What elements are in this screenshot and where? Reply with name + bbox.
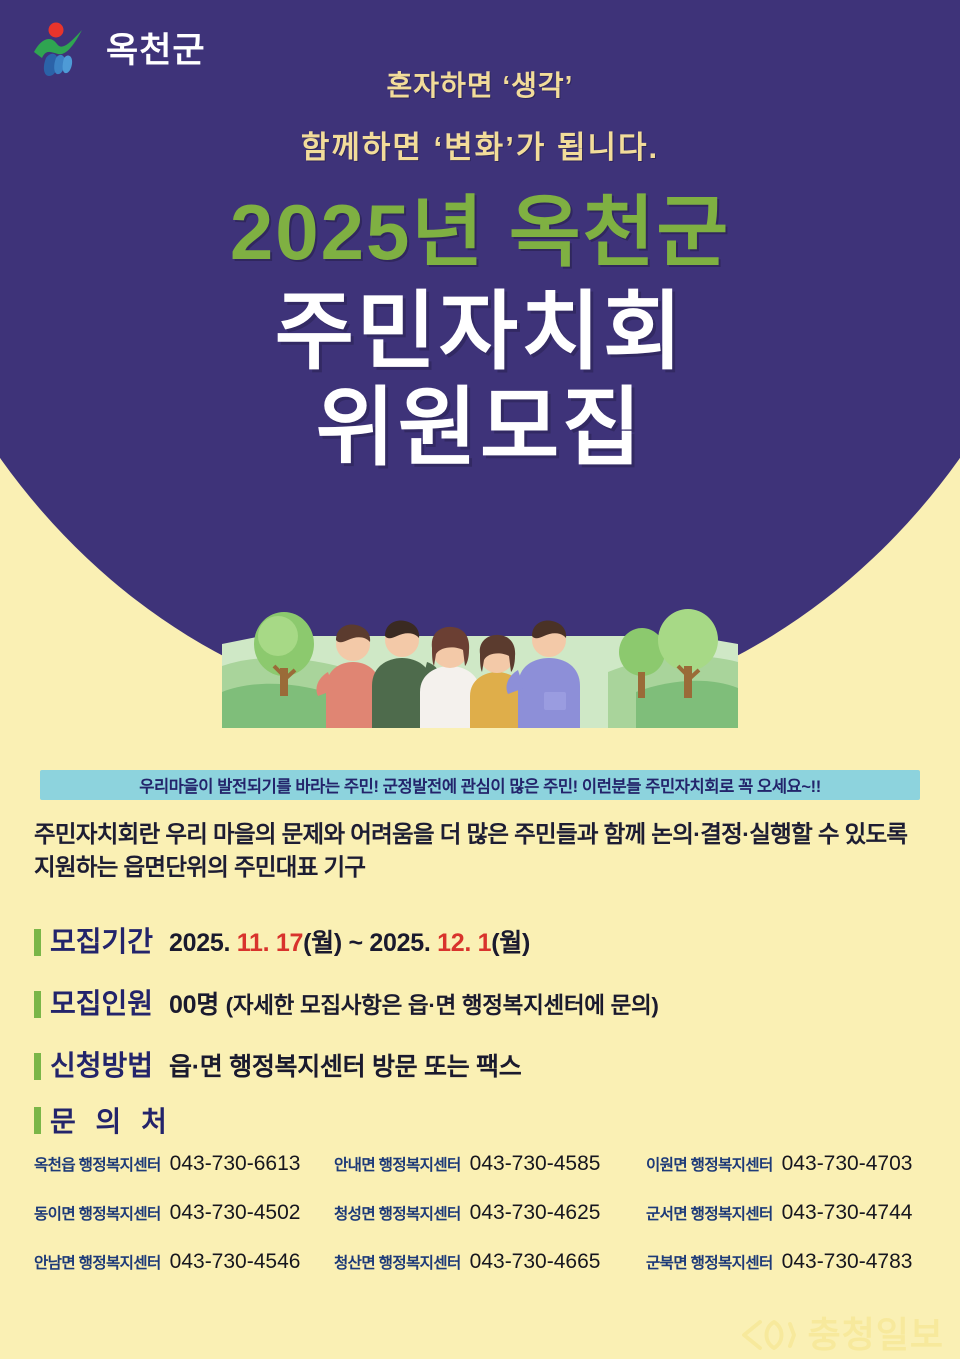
title-main-line-1: 주민자치회 (0, 284, 960, 380)
office-phone[interactable]: 043-730-4744 (782, 1201, 913, 1224)
title-main-block: 주민자치회 위원모집 (0, 284, 960, 477)
info-row-headcount: 모집인원 00명 (자세한 모집사항은 읍·면 행정복지센터에 문의) (34, 982, 934, 1022)
office-name: 청성면 행정복지센터 (334, 1206, 470, 1223)
chungcheong-ilbo-logo-icon (738, 1318, 798, 1352)
table-row: 옥천읍 행정복지센터043-730-6613 안내면 행정복지센터043-730… (34, 1152, 939, 1201)
info-label-period: 모집기간 (50, 920, 153, 960)
contact-cell: 청산면 행정복지센터043-730-4665 (334, 1250, 646, 1299)
five-people-and-trees-illustration (222, 596, 738, 728)
office-name: 군서면 행정복지센터 (646, 1206, 782, 1223)
info-value-period: 2025. 11. 17(월) ~ 2025. 12. 1(월) (169, 923, 530, 959)
headcount-note: (자세한 모집사항은 읍·면 행정복지센터에 문의) (226, 993, 659, 1018)
table-row: 안남면 행정복지센터043-730-4546 청산면 행정복지센터043-730… (34, 1250, 939, 1299)
poster-root: 옥천군 혼자하면 ‘생각’ 함께하면 ‘변화’가 됩니다. 2025년 옥천군 … (0, 0, 960, 1359)
title-year-line: 2025년 옥천군 (0, 192, 960, 274)
contact-cell: 안남면 행정복지센터043-730-4546 (34, 1250, 334, 1299)
period-pre: 2025. (169, 929, 237, 957)
slogan-line-2: 함께하면 ‘변화’가 됩니다. (0, 122, 960, 167)
contact-table: 옥천읍 행정복지센터043-730-6613 안내면 행정복지센터043-730… (34, 1152, 939, 1299)
title-main-line-2: 위원모집 (0, 380, 960, 476)
poster-title: 2025년 옥천군 주민자치회 위원모집 (0, 192, 960, 477)
office-phone[interactable]: 043-730-4783 (782, 1250, 913, 1273)
contact-cell: 동이면 행정복지센터043-730-4502 (34, 1201, 334, 1250)
period-mid: (월) ~ 2025. (303, 929, 437, 957)
watermark-text: 충청일보 (808, 1317, 944, 1353)
highlight-banner-text: 우리마을이 발전되기를 바라는 주민! 군정발전에 관심이 많은 주민! 이런분… (139, 773, 821, 797)
info-value-headcount: 00명 (자세한 모집사항은 읍·면 행정복지센터에 문의) (169, 985, 659, 1021)
office-name: 이원면 행정복지센터 (646, 1157, 782, 1174)
green-accent-bar (34, 1053, 41, 1080)
period-red-1: 11. 17 (237, 929, 303, 957)
contact-heading: 문 의 처 (34, 1100, 939, 1140)
office-phone[interactable]: 043-730-4502 (170, 1201, 301, 1224)
office-name: 안내면 행정복지센터 (334, 1157, 470, 1174)
county-logo-text: 옥천군 (106, 33, 206, 68)
contact-cell: 이원면 행정복지센터043-730-4703 (646, 1152, 939, 1201)
slogan: 혼자하면 ‘생각’ 함께하면 ‘변화’가 됩니다. (0, 64, 960, 167)
info-value-method: 읍·면 행정복지센터 방문 또는 팩스 (169, 1047, 521, 1083)
info-list: 모집기간 2025. 11. 17(월) ~ 2025. 12. 1(월) 모집… (34, 920, 934, 1106)
period-red-2: 12. 1 (437, 929, 491, 957)
table-row: 동이면 행정복지센터043-730-4502 청성면 행정복지센터043-730… (34, 1201, 939, 1250)
watermark: 충청일보 (738, 1317, 944, 1353)
green-accent-bar (34, 1107, 41, 1134)
green-accent-bar (34, 991, 41, 1018)
contact-cell: 옥천읍 행정복지센터043-730-6613 (34, 1152, 334, 1201)
contact-block: 문 의 처 옥천읍 행정복지센터043-730-6613 안내면 행정복지센터0… (34, 1100, 939, 1299)
office-phone[interactable]: 043-730-4546 (170, 1250, 301, 1273)
contact-cell: 군서면 행정복지센터043-730-4744 (646, 1201, 939, 1250)
headcount-number: 00명 (169, 991, 219, 1019)
office-phone[interactable]: 043-730-4625 (470, 1201, 601, 1224)
info-row-method: 신청방법 읍·면 행정복지센터 방문 또는 팩스 (34, 1044, 934, 1084)
slogan-line-1: 혼자하면 ‘생각’ (0, 64, 960, 104)
green-accent-bar (34, 929, 41, 956)
office-phone[interactable]: 043-730-6613 (170, 1152, 301, 1175)
description-text: 주민자치회란 우리 마을의 문제와 어려움을 더 많은 주민들과 함께 논의·결… (34, 818, 932, 885)
highlight-banner: 우리마을이 발전되기를 바라는 주민! 군정발전에 관심이 많은 주민! 이런분… (40, 770, 920, 800)
office-name: 옥천읍 행정복지센터 (34, 1157, 170, 1174)
office-name: 안남면 행정복지센터 (34, 1255, 170, 1272)
contact-cell: 안내면 행정복지센터043-730-4585 (334, 1152, 646, 1201)
contact-label: 문 의 처 (50, 1100, 173, 1140)
office-phone[interactable]: 043-730-4585 (470, 1152, 601, 1175)
office-phone[interactable]: 043-730-4665 (470, 1250, 601, 1273)
info-label-headcount: 모집인원 (50, 982, 153, 1022)
office-name: 군북면 행정복지센터 (646, 1255, 782, 1272)
office-name: 청산면 행정복지센터 (334, 1255, 470, 1272)
contact-cell: 군북면 행정복지센터043-730-4783 (646, 1250, 939, 1299)
info-row-period: 모집기간 2025. 11. 17(월) ~ 2025. 12. 1(월) (34, 920, 934, 960)
office-phone[interactable]: 043-730-4703 (782, 1152, 913, 1175)
period-post: (월) (491, 929, 530, 957)
contact-cell: 청성면 행정복지센터043-730-4625 (334, 1201, 646, 1250)
info-label-method: 신청방법 (50, 1044, 153, 1084)
office-name: 동이면 행정복지센터 (34, 1206, 170, 1223)
